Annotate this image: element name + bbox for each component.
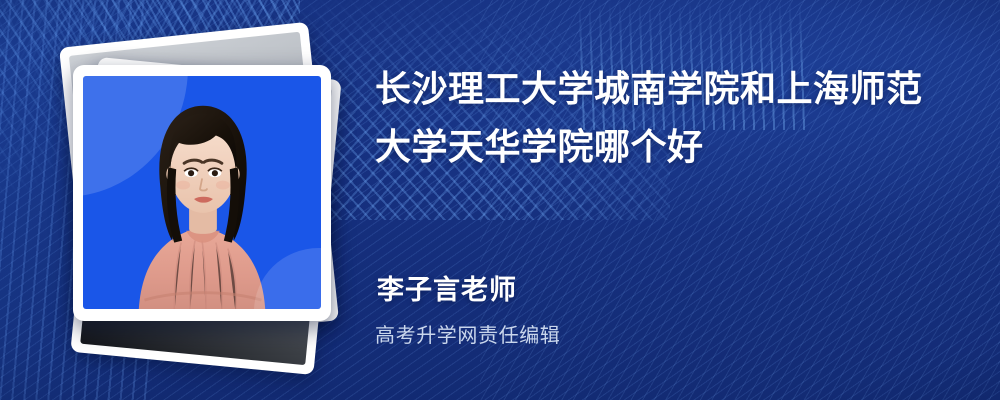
headline-line-2: 大学天华学院哪个好 — [375, 118, 965, 176]
author-name: 李子言老师 — [377, 268, 855, 307]
portrait-illustration — [83, 76, 321, 309]
author-role: 高考升学网责任编辑 — [375, 319, 855, 348]
headline-line-1: 长沙理工大学城南学院和上海师范 — [375, 60, 965, 118]
photo-card-front — [73, 65, 331, 321]
photo-card-stack — [56, 42, 356, 362]
author-photo — [83, 76, 321, 309]
headline-block: 长沙理工大学城南学院和上海师范 大学天华学院哪个好 — [375, 60, 965, 177]
author-byline: 李子言老师 高考升学网责任编辑 — [375, 268, 855, 348]
article-hero-banner: 长沙理工大学城南学院和上海师范 大学天华学院哪个好 李子言老师 高考升学网责任编… — [0, 0, 1000, 400]
